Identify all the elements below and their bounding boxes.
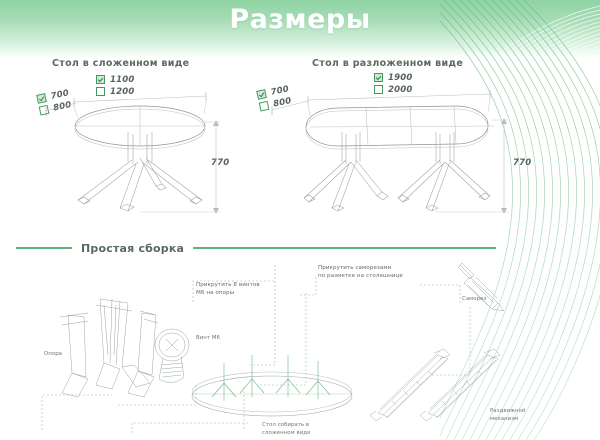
folded-table-drawing [20,66,260,216]
screw-drawing [458,263,504,311]
label-samorez: Саморез [462,295,486,303]
assembled-table-drawing [192,372,352,416]
label-screws-instruction: Прикрутить 8 винтов М6 на опоры [196,281,260,298]
instruction-sheet: Размеры Стол в сложенн [0,0,600,440]
assembly-divider: Простая сборка [16,240,496,256]
assembly-diagram [0,255,520,440]
assembly-section-title: Простая сборка [72,242,193,255]
page-header: Размеры [0,0,600,58]
label-mechanism: Раздвижной механизм [490,407,526,423]
label-vint: Винт М6 [196,334,220,342]
bolt-drawing [155,329,189,383]
label-opora: Опора [44,350,62,358]
extended-table-drawing [250,66,540,216]
label-selftapping-instruction: Прикрутить саморезами по разметке на сто… [318,264,403,281]
divider-line-right [193,247,496,248]
page-title: Размеры [0,4,600,35]
slide-mechanism-drawing [370,349,500,421]
divider-line-left [16,247,72,248]
label-fold-note: Стол собирать в сложенном виде [262,421,310,437]
